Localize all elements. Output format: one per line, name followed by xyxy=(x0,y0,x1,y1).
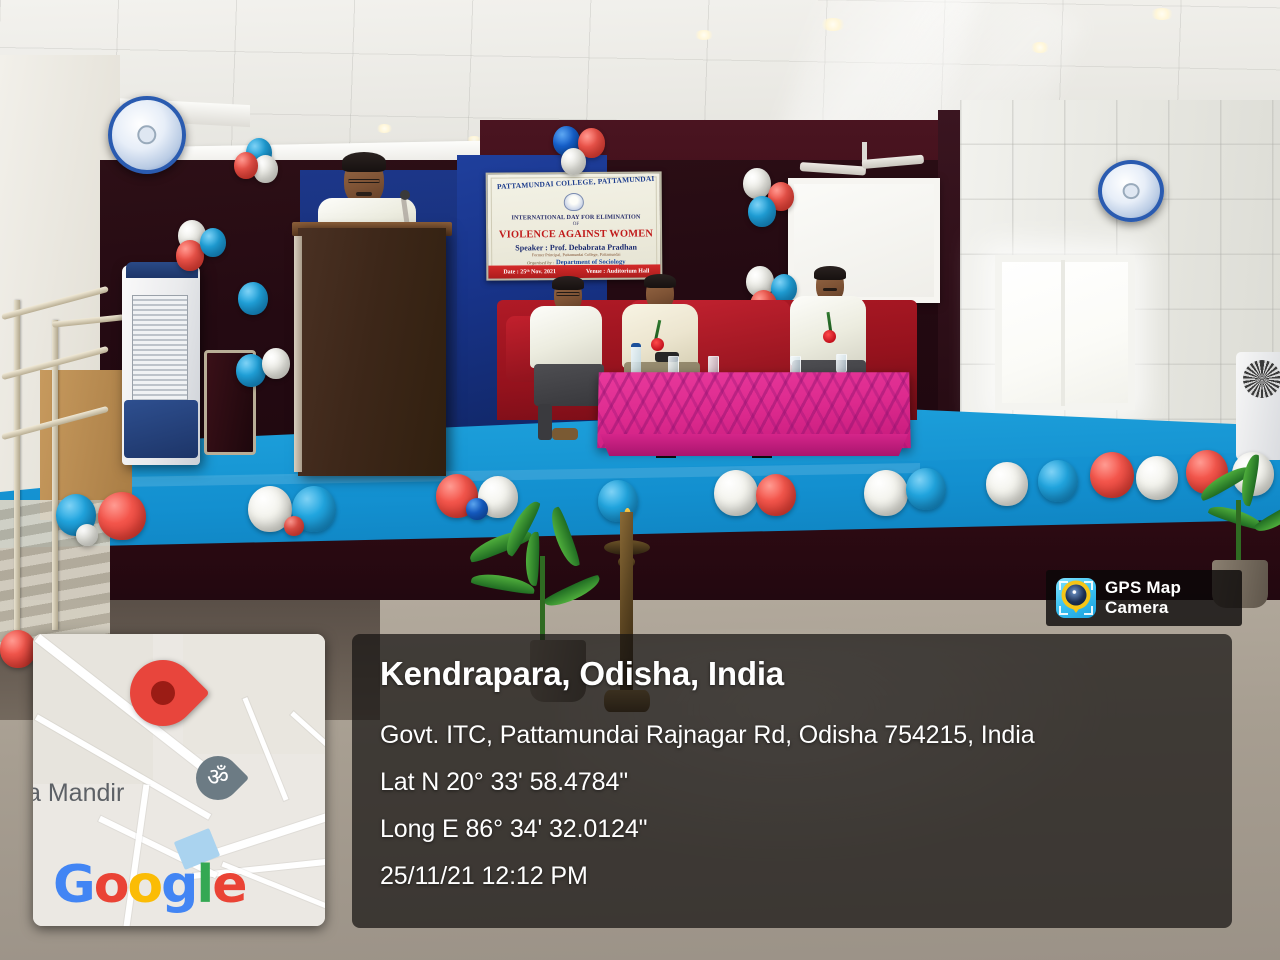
gps-address-text: Govt. ITC, Pattamundai Rajnagar Rd, Odis… xyxy=(380,721,1035,750)
icon-corner xyxy=(1084,606,1093,615)
ceiling-light xyxy=(820,18,846,31)
balloon xyxy=(234,152,258,179)
wall-fan-icon xyxy=(108,96,186,174)
balloon xyxy=(906,468,946,510)
balloon xyxy=(561,148,586,175)
google-logo-o1: o xyxy=(94,855,128,915)
window xyxy=(995,255,1135,410)
panelist-hair xyxy=(644,274,676,288)
air-cooler-right-fan xyxy=(1243,360,1280,398)
panelist-glasses xyxy=(556,292,580,296)
balloon xyxy=(986,462,1028,506)
air-cooler-grill xyxy=(132,295,188,407)
panelist-legs xyxy=(534,364,604,406)
balloon xyxy=(714,470,758,516)
balloon xyxy=(238,282,268,315)
balloon xyxy=(748,196,776,227)
balloon xyxy=(864,470,908,516)
icon-camera-lens xyxy=(1066,584,1087,605)
icon-corner xyxy=(1059,606,1068,615)
panelist-shoe xyxy=(552,428,578,440)
head-table-skirt xyxy=(600,434,908,456)
balloon xyxy=(466,498,488,520)
ceiling-light xyxy=(694,30,714,40)
icon-corner xyxy=(1084,581,1093,590)
google-logo-g: G xyxy=(53,855,94,915)
projection-screen xyxy=(788,178,940,303)
balloon xyxy=(743,168,771,199)
balloon xyxy=(98,492,146,540)
ceiling-light xyxy=(376,124,393,133)
ceiling-light xyxy=(1030,42,1050,53)
window-mullion xyxy=(1061,260,1065,406)
gps-latitude-text: Lat N 20° 33' 58.4784" xyxy=(380,768,628,797)
google-logo-e: e xyxy=(212,855,245,915)
panelist-shin xyxy=(538,404,552,440)
google-logo-l: l xyxy=(196,855,212,915)
om-glyph: ॐ xyxy=(207,766,229,790)
event-banner: PATTAMUNDAI COLLEGE, PATTAMUNDAI INTERNA… xyxy=(486,171,663,280)
podium-edge xyxy=(294,236,302,472)
gps-datetime-text: 25/11/21 12:12 PM xyxy=(380,862,588,891)
handrail-post xyxy=(14,300,20,630)
speaker-hair xyxy=(342,152,386,172)
banner-title: VIOLENCE AGAINST WOMEN xyxy=(488,228,662,240)
balloon xyxy=(756,474,796,516)
palm-stem xyxy=(540,556,545,646)
speaker-glasses xyxy=(348,179,380,183)
panelist-hair xyxy=(552,276,584,290)
panelist-moustache xyxy=(823,288,837,291)
watermark-app-name: GPS Map Camera xyxy=(1105,578,1242,618)
banner-date: Date : 25ᵗʰ Nov. 2021 xyxy=(503,269,556,275)
map-place-label: a Mandir xyxy=(33,779,124,808)
college-logo-icon xyxy=(564,193,584,211)
microphone-head xyxy=(400,190,410,200)
balloon xyxy=(200,228,226,257)
gps-map-camera-watermark: GPS Map Camera xyxy=(1046,570,1242,626)
google-logo: Google xyxy=(53,855,246,915)
podium xyxy=(298,228,446,476)
gps-map-camera-icon xyxy=(1056,578,1096,618)
water-glass xyxy=(836,354,847,373)
wall-fan-icon xyxy=(1098,160,1164,222)
panelist-hair xyxy=(814,266,846,280)
balloon xyxy=(1090,452,1134,498)
banner-venue: Venue : Auditorium Hall xyxy=(586,268,649,274)
balloon xyxy=(262,348,290,379)
balloon xyxy=(76,524,98,546)
rose-flower xyxy=(823,330,836,343)
gps-longitude-text: Long E 86° 34' 32.0124" xyxy=(380,815,647,844)
balloon xyxy=(1136,456,1178,500)
balloon xyxy=(1038,460,1078,502)
water-bottle xyxy=(631,343,641,375)
google-logo-o2: o xyxy=(127,855,161,915)
photograph: PATTAMUNDAI COLLEGE, PATTAMUNDAI INTERNA… xyxy=(0,0,1280,960)
panelist-torso xyxy=(530,306,602,368)
air-cooler-base xyxy=(124,400,198,458)
balloon xyxy=(0,630,36,668)
speaker-moustache xyxy=(356,192,372,196)
rose-flower xyxy=(651,338,664,351)
google-logo-g2: g xyxy=(161,855,196,915)
gps-city-text: Kendrapara, Odisha, India xyxy=(380,655,784,693)
balloon xyxy=(284,516,304,536)
banner-occasion: INTERNATIONAL DAY FOR ELIMINATION xyxy=(488,213,662,221)
ceiling-light xyxy=(1150,8,1174,20)
